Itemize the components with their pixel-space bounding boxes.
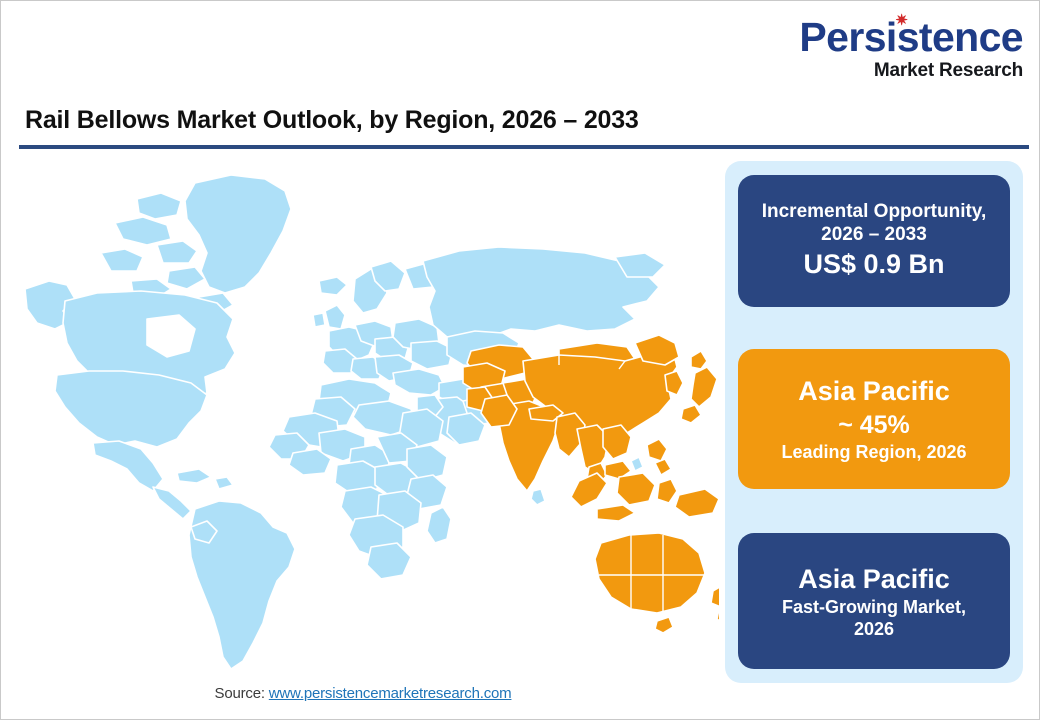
fast-growing-caption-line2: 2026 bbox=[854, 619, 894, 641]
leading-region-share: ~ 45% bbox=[838, 409, 910, 442]
card-fast-growing-market: Asia Pacific Fast-Growing Market, 2026 bbox=[738, 533, 1010, 669]
leading-region-caption: Leading Region, 2026 bbox=[781, 442, 966, 464]
world-map-svg bbox=[19, 161, 719, 671]
company-logo: Persistence ✷ Market Research bbox=[799, 17, 1023, 80]
source-label: Source: bbox=[215, 685, 269, 702]
logo-wordmark-text: Persistence bbox=[799, 14, 1023, 60]
card-leading-region: Asia Pacific ~ 45% Leading Region, 2026 bbox=[738, 349, 1010, 489]
star-icon: ✷ bbox=[895, 15, 907, 27]
card-incremental-opportunity: Incremental Opportunity, 2026 – 2033 US$… bbox=[738, 175, 1010, 307]
title-divider bbox=[19, 145, 1029, 149]
incremental-value: US$ 0.9 Bn bbox=[803, 247, 944, 282]
map-region-asia-pacific bbox=[463, 335, 719, 633]
fast-growing-region-name: Asia Pacific bbox=[798, 562, 950, 597]
logo-wordmark: Persistence ✷ bbox=[799, 17, 1023, 58]
fast-growing-caption-line1: Fast-Growing Market, bbox=[782, 597, 966, 619]
world-map bbox=[19, 161, 719, 671]
kpi-panel: Incremental Opportunity, 2026 – 2033 US$… bbox=[725, 161, 1023, 683]
source-line: Source: www.persistencemarketresearch.co… bbox=[1, 685, 725, 702]
logo-subtitle: Market Research bbox=[799, 61, 1023, 80]
leading-region-name: Asia Pacific bbox=[798, 374, 950, 409]
source-link[interactable]: www.persistencemarketresearch.com bbox=[269, 685, 512, 702]
infographic-canvas: Persistence ✷ Market Research Rail Bello… bbox=[0, 0, 1040, 720]
incremental-heading-line1: Incremental Opportunity, bbox=[762, 200, 987, 223]
incremental-heading-line2: 2026 – 2033 bbox=[821, 223, 927, 246]
page-title: Rail Bellows Market Outlook, by Region, … bbox=[25, 106, 639, 135]
